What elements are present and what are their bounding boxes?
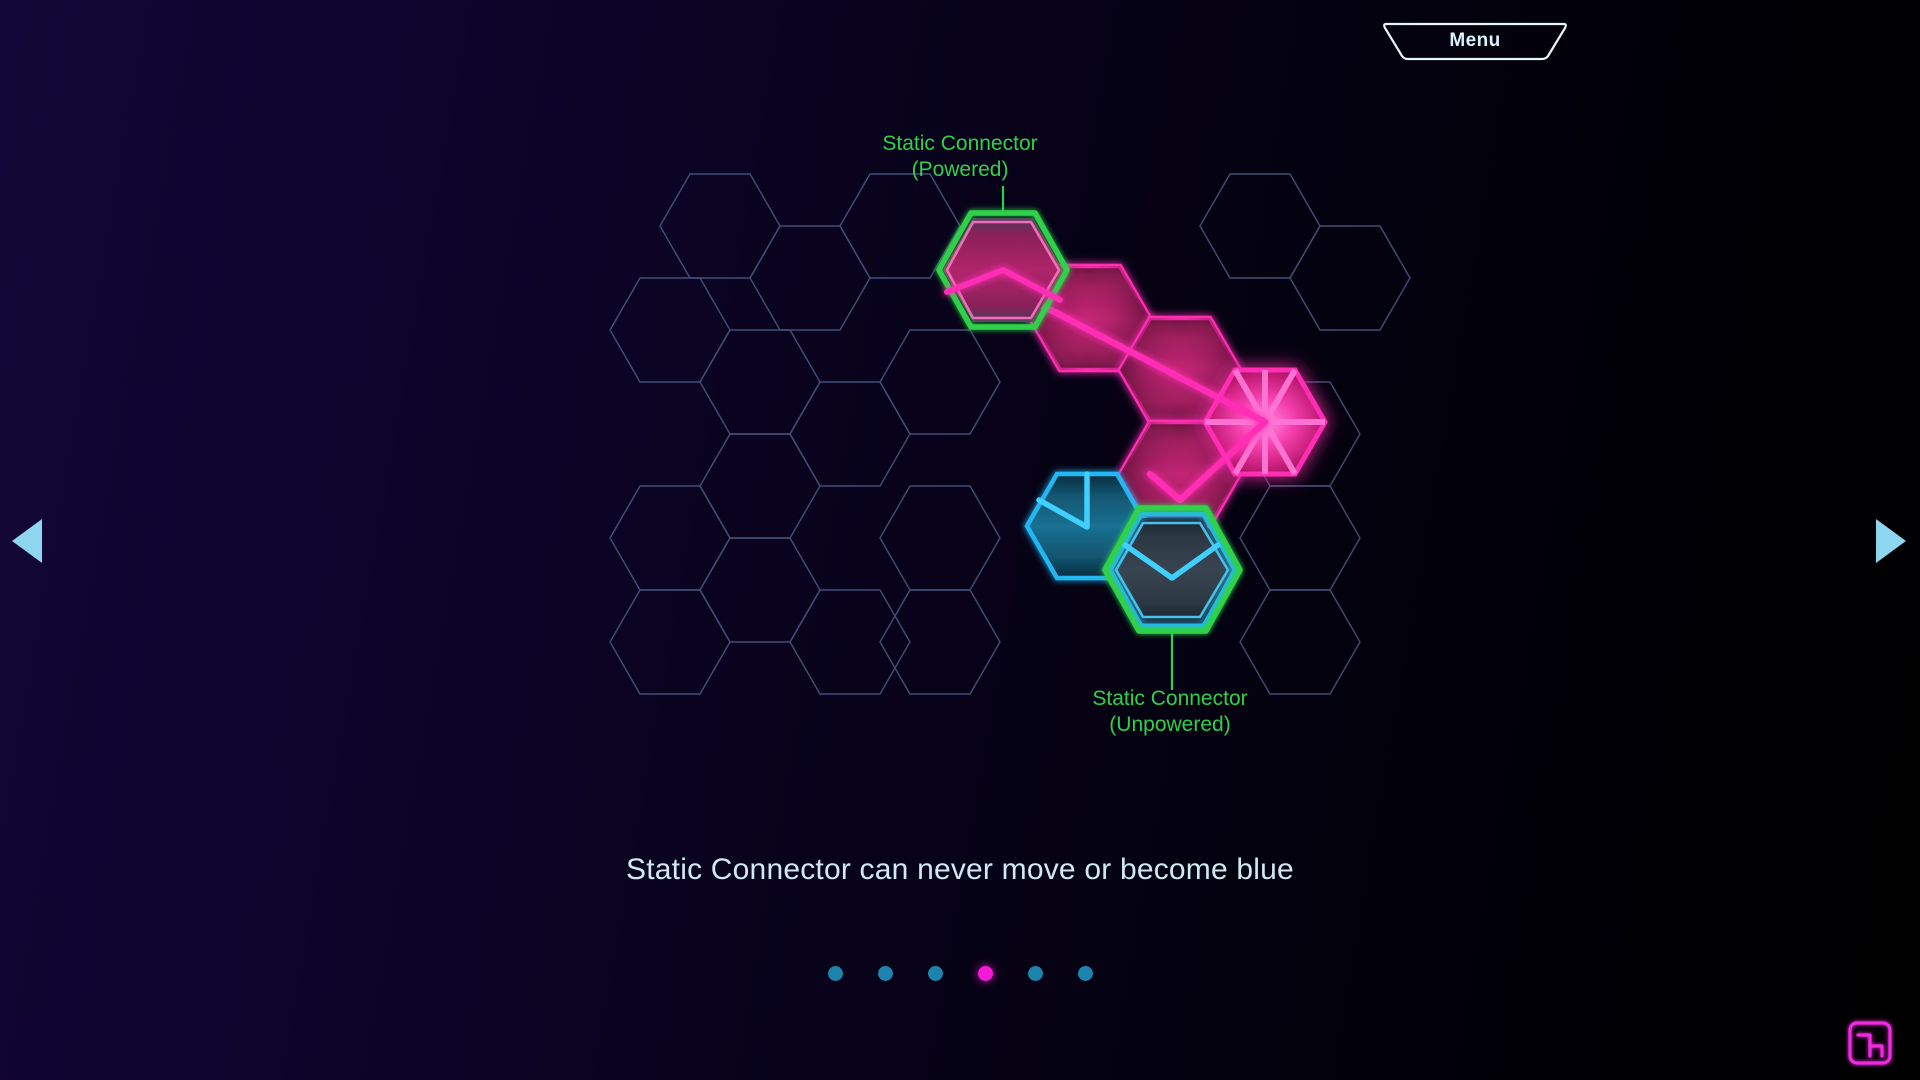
annotation-label-unpowered: Static Connector (Unpowered) [1030,686,1310,738]
menu-button[interactable]: Menu [1380,20,1570,62]
pagination-dot-active[interactable] [978,966,993,981]
empty-hex [790,590,910,694]
game-screen: Menu Static Connector (Powered) Static C… [0,0,1920,1080]
empty-hex [700,538,820,642]
empty-hex [880,486,1000,590]
tutorial-caption: Static Connector can never move or becom… [0,853,1920,887]
pagination-dots [0,966,1920,981]
empty-hex [1240,486,1360,590]
empty-hex [1290,226,1410,330]
previous-page-button[interactable] [12,519,56,563]
empty-hex [700,434,820,538]
pagination-dot[interactable] [1078,966,1093,981]
right-triangle-icon [1876,519,1906,563]
empty-hex [1240,590,1360,694]
empty-hex [750,226,870,330]
empty-hex [700,330,820,434]
pagination-dot[interactable] [1028,966,1043,981]
empty-hex [790,382,910,486]
annotation-label-powered: Static Connector (Powered) [820,131,1100,183]
empty-hex [880,330,1000,434]
left-triangle-icon [12,519,42,563]
empty-hex [880,590,1000,694]
pagination-dot[interactable] [828,966,843,981]
empty-hex [610,486,730,590]
puzzle-layout-button[interactable] [1845,1018,1895,1068]
menu-button-label: Menu [1380,20,1570,62]
empty-hex [610,590,730,694]
empty-hex [660,174,780,278]
next-page-button[interactable] [1862,519,1906,563]
pagination-dot[interactable] [878,966,893,981]
pagination-dot[interactable] [928,966,943,981]
empty-hex [610,278,730,382]
empty-hex [1200,174,1320,278]
puzzle-layout-icon [1850,1023,1890,1063]
